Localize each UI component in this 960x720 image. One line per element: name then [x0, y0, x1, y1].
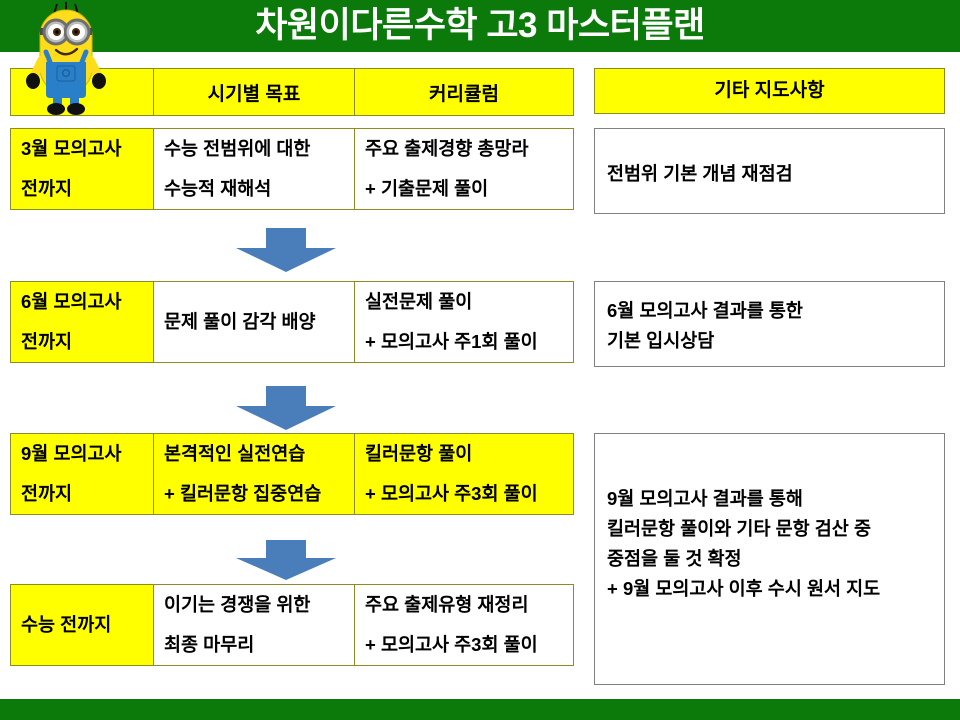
- cell-goal-june: 문제 풀이 감각 배양: [154, 282, 355, 363]
- header-label-other: 기타 지도사항: [595, 69, 944, 112]
- curriculum-line-2: + 모의고사 주3회 풀이: [355, 625, 573, 665]
- other-line-1: 전범위 기본 개념 재점검: [595, 129, 944, 189]
- goal-line-1: 문제 풀이 감각 배양: [154, 302, 354, 342]
- other-box-june: 6월 모의고사 결과를 통한 기본 입시상담: [594, 281, 945, 367]
- table-row: 수능 전까지 이기는 경쟁을 위한 최종 마무리 주요 출제유형 재정리 + 모…: [11, 585, 574, 666]
- cell-period-suneung: 수능 전까지: [11, 585, 154, 666]
- minion-mascot-icon: [20, 2, 112, 122]
- other-line-2: 킬러문항 풀이와 기타 문항 검산 중: [595, 514, 944, 544]
- curriculum-line-1: 킬러문항 풀이: [355, 434, 573, 474]
- cell-curriculum-september: 킬러문항 풀이 + 모의고사 주3회 풀이: [355, 434, 574, 515]
- cell-goal-march: 수능 전범위에 대한 수능적 재해석: [154, 129, 355, 210]
- goal-line-2: + 킬러문항 집중연습: [154, 474, 354, 514]
- plan-row-suneung: 수능 전까지 이기는 경쟁을 위한 최종 마무리 주요 출제유형 재정리 + 모…: [10, 584, 574, 666]
- cell-curriculum-suneung: 주요 출제유형 재정리 + 모의고사 주3회 풀이: [355, 585, 574, 666]
- goal-line-1: 수능 전범위에 대한: [154, 129, 354, 169]
- flow-arrow-2: [0, 386, 572, 430]
- footer-banner: [0, 699, 960, 720]
- period-line-1: 6월 모의고사: [11, 282, 153, 322]
- curriculum-line-1: 실전문제 풀이: [355, 282, 573, 322]
- other-line-1: 9월 모의고사 결과를 통해: [595, 434, 944, 514]
- goal-line-2: 최종 마무리: [154, 625, 354, 665]
- period-line-1: 3월 모의고사: [11, 129, 153, 169]
- cell-curriculum-june: 실전문제 풀이 + 모의고사 주1회 풀이: [355, 282, 574, 363]
- period-line-2: 전까지: [11, 169, 153, 209]
- goal-line-2: 수능적 재해석: [154, 169, 354, 209]
- curriculum-line-2: + 모의고사 주3회 풀이: [355, 474, 573, 514]
- curriculum-line-2: + 기출문제 풀이: [355, 169, 573, 209]
- header-cell-other: 기타 지도사항: [594, 68, 945, 114]
- cell-goal-september: 본격적인 실전연습 + 킬러문항 집중연습: [154, 434, 355, 515]
- cell-goal-suneung: 이기는 경쟁을 위한 최종 마무리: [154, 585, 355, 666]
- header-label-goal: 시기별 목표: [154, 79, 354, 106]
- cell-curriculum-march: 주요 출제경향 총망라 + 기출문제 풀이: [355, 129, 574, 210]
- other-box-september: 9월 모의고사 결과를 통해 킬러문항 풀이와 기타 문항 검산 중 중점을 둘…: [594, 433, 945, 685]
- table-row: 3월 모의고사 전까지 수능 전범위에 대한 수능적 재해석 주요 출제경향 총…: [11, 129, 574, 210]
- plan-row-march: 3월 모의고사 전까지 수능 전범위에 대한 수능적 재해석 주요 출제경향 총…: [10, 128, 574, 210]
- cell-period-june: 6월 모의고사 전까지: [11, 282, 154, 363]
- goal-line-1: 이기는 경쟁을 위한: [154, 585, 354, 625]
- other-line-1: 6월 모의고사 결과를 통한: [595, 282, 944, 326]
- cell-period-september: 9월 모의고사 전까지: [11, 434, 154, 515]
- table-row: 9월 모의고사 전까지 본격적인 실전연습 + 킬러문항 집중연습 킬러문항 풀…: [11, 434, 574, 515]
- goal-line-1: 본격적인 실전연습: [154, 434, 354, 474]
- header-cell-curriculum: 커리큘럼: [355, 69, 574, 116]
- other-line-3: 중점을 둘 것 확정: [595, 544, 944, 574]
- flow-arrow-1: [0, 228, 572, 272]
- header-cell-goal: 시기별 목표: [154, 69, 355, 116]
- curriculum-line-1: 주요 출제유형 재정리: [355, 585, 573, 625]
- other-box-march: 전범위 기본 개념 재점검: [594, 128, 945, 214]
- plan-row-june: 6월 모의고사 전까지 문제 풀이 감각 배양 실전문제 풀이 + 모의고사 주…: [10, 281, 574, 363]
- period-line-1: 수능 전까지: [11, 585, 153, 665]
- period-line-2: 전까지: [11, 322, 153, 362]
- plan-row-september: 9월 모의고사 전까지 본격적인 실전연습 + 킬러문항 집중연습 킬러문항 풀…: [10, 433, 574, 515]
- flow-arrow-3: [0, 540, 572, 580]
- period-line-1: 9월 모의고사: [11, 434, 153, 474]
- curriculum-line-2: + 모의고사 주1회 풀이: [355, 322, 573, 362]
- period-line-2: 전까지: [11, 474, 153, 514]
- table-row: 6월 모의고사 전까지 문제 풀이 감각 배양 실전문제 풀이 + 모의고사 주…: [11, 282, 574, 363]
- header-label-curriculum: 커리큘럼: [355, 79, 573, 106]
- curriculum-line-1: 주요 출제경향 총망라: [355, 129, 573, 169]
- other-line-4: + 9월 모의고사 이후 수시 원서 지도: [595, 574, 944, 604]
- page-title: 차원이다른수학 고3 마스터플랜: [0, 0, 960, 52]
- other-line-2: 기본 입시상담: [595, 326, 944, 356]
- cell-period-march: 3월 모의고사 전까지: [11, 129, 154, 210]
